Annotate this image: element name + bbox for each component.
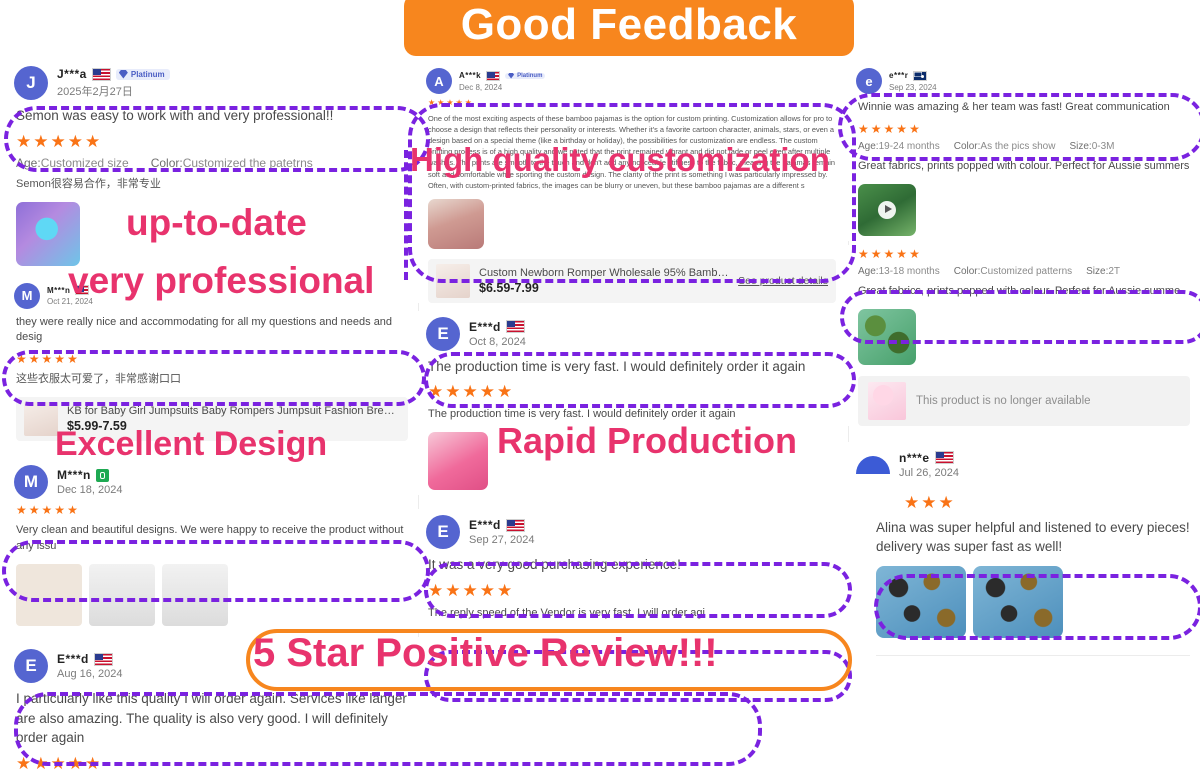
review-headline: It was a very good purchasing experience… [418,551,846,579]
star-icon: ★ [445,582,460,599]
avatar: M [14,465,48,499]
review-header: E E***d Aug 16, 2024 [6,643,418,685]
star-icon: ★ [68,133,83,150]
flag-us-icon [935,451,954,464]
star-rating: ★ ★ ★ ★ ★ [6,130,418,153]
star-icon: ★ [896,248,907,260]
attr-color: Color:Customized patterns [954,266,1072,277]
review-headline: Semon was easy to work with and very pro… [6,102,418,130]
review-thumbnails [6,197,418,271]
reviewer-name: A***k [459,71,481,80]
reviewer-name: M***n [57,468,91,482]
review-body: 这些衣服太可爱了，非常感谢口口 [6,368,418,392]
star-icon: ★ [465,99,472,107]
star-icon: ★ [85,755,100,772]
review-attributes: Age:13-18 months Color:Customized patter… [848,263,1200,280]
reviewer-name: n***e [899,451,930,465]
star-icon: ★ [904,494,919,511]
star-rating: ★ ★ ★ [848,484,1200,514]
package-photo-1[interactable] [16,564,82,626]
review-card: E E***d Oct 8, 2024 The production time … [418,311,846,496]
star-rating: ★ ★ ★ ★ ★ [6,501,418,519]
review-header: A A***k Platinum Dec 8, 2024 [418,60,846,96]
attr-size: Size:0-3M [1069,141,1114,152]
package-photo-2[interactable] [89,564,155,626]
flag-us-icon [75,285,89,295]
star-icon: ★ [16,504,27,516]
divider [428,632,836,633]
green-message-icon [96,469,109,482]
pink-pajamas-photo[interactable] [428,432,488,490]
star-icon: ★ [42,504,53,516]
reviewer-name: e***r [889,71,908,80]
review-card: E E***d Sep 27, 2024 It was a very good … [418,509,846,633]
review-headline: I particularly like this quality I will … [6,685,418,752]
star-icon: ★ [445,383,460,400]
star-icon: ★ [29,353,40,365]
flag-us-icon [506,320,525,333]
review-thumbnails [6,559,418,631]
product-thumbnail [868,382,906,420]
star-icon: ★ [446,99,453,107]
product-thumbnail [24,402,58,436]
star-icon: ★ [497,582,512,599]
review-headline: they were really nice and accommodating … [6,311,418,351]
gem-icon [119,70,128,79]
star-icon: ★ [909,248,920,260]
gem-icon [508,73,514,79]
flag-us-icon [486,71,500,81]
review-headline: Very clean and beautiful designs. We wer… [6,519,418,559]
avatar: E [14,649,48,683]
star-icon: ★ [33,755,48,772]
review-column-left: J J***a Platinum 2025年2月27日 Semon was ea… [6,60,418,779]
review-date: Jul 26, 2024 [899,467,959,479]
review-thumbnails [848,304,1200,370]
review-body: Semon很容易合作，非常专业 [6,173,418,197]
platinum-badge: Platinum [116,69,170,80]
star-icon: ★ [463,383,478,400]
reviewer-name: E***d [469,518,501,532]
star-icon: ★ [858,123,869,135]
avatar: e [856,68,882,94]
review-thumbnails [418,427,846,495]
review-header: E E***d Oct 8, 2024 [418,311,846,353]
star-rating: ★ ★ ★ ★ ★ [848,245,1200,263]
star-rating: ★ ★ ★ ★ ★ [848,120,1200,138]
star-icon: ★ [42,353,53,365]
review-body: One of the most exciting aspects of thes… [418,110,846,194]
product-price: $6.59-7.99 [479,281,729,295]
review-attributes: Age:Customized size Color:Customized the… [6,153,418,173]
review-date: 2025年2月27日 [57,83,170,99]
highlight-box-reply-speed [424,650,852,702]
star-icon: ★ [85,133,100,150]
review-header: M M***n Dec 18, 2024 [6,459,418,501]
package-photo-3[interactable] [162,564,228,626]
star-rating: ★ ★ ★ ★ ★ [418,380,846,403]
star-icon: ★ [884,248,895,260]
reviewer-name: J***a [57,67,87,81]
star-icon: ★ [497,383,512,400]
review-attributes: Age:19-24 months Color:As the pics show … [848,138,1200,155]
star-icon: ★ [871,123,882,135]
camo-romper-photo[interactable] [858,309,916,365]
review-column-right: e e***r Sep 23, 2024 Winnie was amazing … [848,60,1200,660]
avatar: E [426,317,460,351]
review-date: Sep 23, 2024 [889,83,937,92]
avatar [856,456,890,474]
attr-color: Color:As the pics show [954,141,1056,152]
leopard-pajamas-1[interactable] [876,566,966,638]
reviewer-name: E***d [57,652,89,666]
star-icon: ★ [68,755,83,772]
star-icon: ★ [463,582,478,599]
review-thumbnails [848,561,1200,643]
star-rating: ★ ★ ★ ★ ★ [418,579,846,602]
product-price: $5.99-7.59 [67,419,400,433]
platinum-badge: Platinum [505,73,545,79]
platinum-label: Platinum [131,70,165,79]
product-unavailable-strip: This product is no longer available [858,376,1190,426]
star-rating: ★ ★ ★ ★ ★ [418,96,846,110]
attr-age: Age:Customized size [16,156,129,170]
star-icon: ★ [29,504,40,516]
star-icon: ★ [51,133,66,150]
review-body: Great fabrics, prints popped with colour… [848,155,1200,179]
star-icon: ★ [884,123,895,135]
see-product-details-link[interactable]: See product details [738,275,828,287]
star-icon: ★ [16,353,27,365]
review-body: The reply speed of the Vendor is very fa… [418,602,846,626]
avatar: A [426,68,452,94]
product-thumbnail [436,264,470,298]
star-icon: ★ [16,133,31,150]
good-feedback-banner: Good Feedback [404,0,854,56]
review-card: J J***a Platinum 2025年2月27日 Semon was ea… [6,60,418,271]
review-card: A A***k Platinum Dec 8, 2024 ★ ★ [418,60,846,303]
flag-us-icon [92,68,111,81]
review-date: Oct 8, 2024 [469,336,526,348]
review-headline: The production time is very fast. I woul… [418,353,846,381]
star-icon: ★ [909,123,920,135]
star-rating: ★ ★ ★ ★ ★ [6,752,418,775]
reviewer-name: E***d [469,320,501,334]
avatar: J [14,66,48,100]
dress-photo[interactable] [16,202,80,266]
star-icon: ★ [54,353,65,365]
leopard-pajamas-2[interactable] [973,566,1063,638]
flag-us-icon [94,653,113,666]
divider [876,655,1190,656]
product-unavailable-text: This product is no longer available [916,395,1091,407]
star-icon: ★ [16,755,31,772]
play-icon[interactable] [878,201,896,219]
star-icon: ★ [456,99,463,107]
review-date: Sep 27, 2024 [469,534,534,546]
review-body: Great fabrics, prints popped with colour… [848,280,1200,304]
attr-age: Age:13-18 months [858,266,940,277]
review-header: E E***d Sep 27, 2024 [418,509,846,551]
star-icon: ★ [480,383,495,400]
star-icon: ★ [428,582,443,599]
review-date: Dec 8, 2024 [459,83,545,92]
review-body: The production time is very fast. I woul… [418,403,846,427]
product-strip[interactable]: KB for Baby Girl Jumpsuits Baby Rompers … [16,397,408,441]
review-card: n***e Jul 26, 2024 ★ ★ ★ Alina was super… [848,442,1200,656]
avatar: M [14,283,40,309]
banner-title: Good Feedback [461,3,798,47]
star-icon: ★ [480,582,495,599]
star-icon: ★ [428,383,443,400]
review-column-middle: A A***k Platinum Dec 8, 2024 ★ ★ [418,60,846,637]
video-thumb-baby[interactable] [858,184,916,236]
flag-us-icon [506,519,525,532]
review-header: e e***r Sep 23, 2024 [848,60,1200,96]
star-icon: ★ [67,504,78,516]
product-strip[interactable]: Custom Newborn Romper Wholesale 95% Bamb… [428,259,836,303]
review-card: M M***n Oct 21, 2024 they were really ni… [6,277,418,442]
attr-age: Age:19-24 months [858,141,940,152]
star-icon: ★ [67,353,78,365]
review-header: M M***n Oct 21, 2024 [6,277,418,311]
family-pajamas-photo[interactable] [428,199,484,249]
star-icon: ★ [871,248,882,260]
product-title: Custom Newborn Romper Wholesale 95% Bamb… [479,267,729,279]
star-icon: ★ [437,99,444,107]
review-header: J J***a Platinum 2025年2月27日 [6,60,418,102]
star-icon: ★ [33,133,48,150]
review-thumbnails [848,179,1200,241]
attr-size: Size:2T [1086,266,1120,277]
star-icon: ★ [921,494,936,511]
platinum-label: Platinum [517,73,542,79]
star-icon: ★ [896,123,907,135]
review-date: Dec 18, 2024 [57,484,122,496]
review-headline: Winnie was amazing & her team was fast! … [848,96,1200,120]
product-title: KB for Baby Girl Jumpsuits Baby Rompers … [67,405,400,417]
avatar: E [426,515,460,549]
review-thumbnails [418,194,846,254]
flag-au-icon [913,71,927,81]
reviewer-name: M***n [47,286,70,295]
star-rating: ★ ★ ★ ★ ★ [6,350,418,368]
star-icon: ★ [54,504,65,516]
review-date: Oct 21, 2024 [47,297,93,306]
review-headline: Alina was super helpful and listened to … [848,514,1200,561]
attr-color: Color:Customized the patetrns [151,156,313,170]
review-card: ★ ★ ★ ★ ★ Age:13-18 months Color:Customi… [848,245,1200,426]
review-card: e e***r Sep 23, 2024 Winnie was amazing … [848,60,1200,241]
star-icon: ★ [428,99,435,107]
review-date: Aug 16, 2024 [57,668,122,680]
review-card: M M***n Dec 18, 2024 ★ ★ ★ ★ ★ Very clea… [6,459,418,631]
star-icon: ★ [939,494,954,511]
feedback-collage: Good Feedback J J***a Platinum 2025年2月27… [0,0,1200,780]
review-card: E E***d Aug 16, 2024 I particularly like… [6,643,418,775]
star-icon: ★ [858,248,869,260]
review-header: n***e Jul 26, 2024 [848,442,1200,484]
star-icon: ★ [51,755,66,772]
